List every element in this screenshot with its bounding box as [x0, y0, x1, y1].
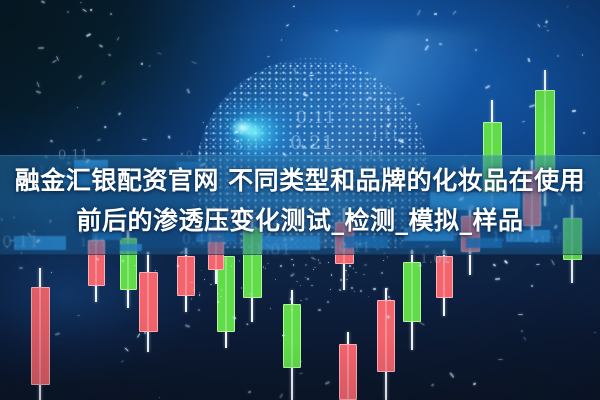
headline-text: 融金汇银配资官网 不同类型和品牌的化妆品在使用 前后的渗透压变化测试_检测_模拟…: [0, 161, 600, 241]
headline-line-1: 融金汇银配资官网 不同类型和品牌的化妆品在使用: [15, 166, 585, 195]
banner-image: 0.110.211.113.110.111.010.111.110.111.01…: [0, 0, 600, 400]
headline-line-2: 前后的渗透压变化测试_检测_模拟_样品: [0, 201, 600, 241]
